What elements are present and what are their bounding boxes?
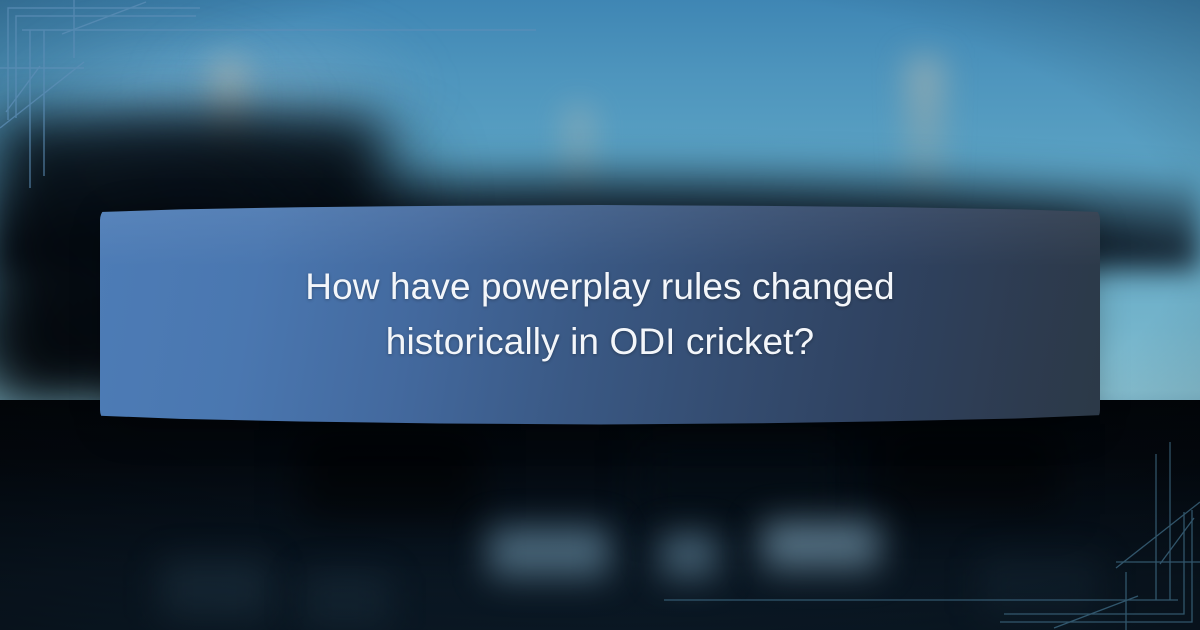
question-card: How have powerplay rules changed histori… [100,205,1100,425]
question-text: How have powerplay rules changed histori… [280,260,920,370]
card-surface: How have powerplay rules changed histori… [100,205,1100,425]
card-content: How have powerplay rules changed histori… [100,205,1100,425]
question-card-graphic: How have powerplay rules changed histori… [0,0,1200,630]
